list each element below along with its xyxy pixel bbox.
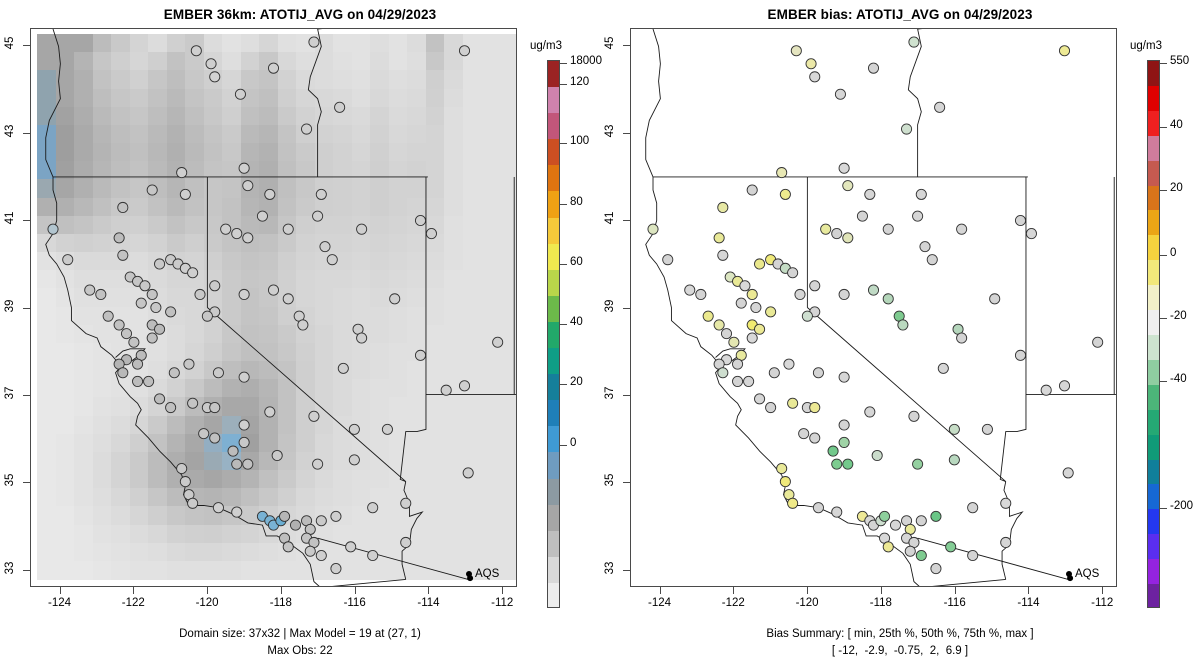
aqs-site-marker[interactable] <box>368 503 378 513</box>
aqs-dot-icon <box>1066 571 1072 577</box>
aqs-site-marker[interactable] <box>802 311 812 321</box>
aqs-site-marker[interactable] <box>769 368 779 378</box>
aqs-site-marker[interactable] <box>839 372 849 382</box>
aqs-site-marker[interactable] <box>810 402 820 412</box>
colorbar-segment <box>548 583 559 608</box>
aqs-site-marker[interactable] <box>283 294 293 304</box>
aqs-site-marker[interactable] <box>810 72 820 82</box>
aqs-site-marker[interactable] <box>144 376 154 386</box>
colorbar-segment <box>1148 559 1159 584</box>
aqs-site-marker[interactable] <box>459 381 469 391</box>
colorbar-tick <box>560 384 567 385</box>
aqs-site-marker[interactable] <box>872 450 882 460</box>
aqs-site-marker[interactable] <box>813 368 823 378</box>
aqs-site-marker[interactable] <box>909 37 919 47</box>
aqs-site-marker[interactable] <box>703 311 713 321</box>
colorbar-tick-label: 20 <box>1170 182 1183 194</box>
aqs-site-marker[interactable] <box>166 402 176 412</box>
aqs-legend-label: AQS <box>475 568 499 580</box>
x-axis-label: -124 <box>36 597 84 609</box>
aqs-site-marker[interactable] <box>331 511 341 521</box>
aqs-site-marker[interactable] <box>239 289 249 299</box>
aqs-site-marker[interactable] <box>898 320 908 330</box>
aqs-site-marker[interactable] <box>832 459 842 469</box>
aqs-site-marker[interactable] <box>154 394 164 404</box>
aqs-site-marker[interactable] <box>305 546 315 556</box>
aqs-site-marker[interactable] <box>154 259 164 269</box>
x-axis-tick <box>281 587 282 594</box>
aqs-site-marker[interactable] <box>257 211 267 221</box>
y-axis-label: 43 <box>604 119 616 143</box>
y-axis-tick <box>623 220 630 221</box>
aqs-site-marker[interactable] <box>754 394 764 404</box>
aqs-site-marker[interactable] <box>931 511 941 521</box>
aqs-site-marker[interactable] <box>140 281 150 291</box>
colorbar-tick <box>560 264 567 265</box>
aqs-site-marker[interactable] <box>732 376 742 386</box>
x-axis-tick <box>355 587 356 594</box>
aqs-site-marker[interactable] <box>718 202 728 212</box>
aqs-site-marker[interactable] <box>426 228 436 238</box>
colorbar-tick <box>560 143 567 144</box>
aqs-site-marker[interactable] <box>810 433 820 443</box>
aqs-site-marker[interactable] <box>1041 385 1051 395</box>
aqs-site-marker[interactable] <box>232 228 242 238</box>
aqs-site-marker[interactable] <box>390 294 400 304</box>
colorbar-tick-label: 100 <box>570 135 589 147</box>
aqs-site-marker[interactable] <box>696 289 706 299</box>
colorbar-segment <box>548 218 559 244</box>
aqs-site-marker[interactable] <box>788 498 798 508</box>
colorbar-tick-label: 0 <box>1170 247 1176 259</box>
colorbar-segment <box>1148 186 1159 211</box>
aqs-site-marker[interactable] <box>938 363 948 373</box>
aqs-site-marker[interactable] <box>298 320 308 330</box>
colorbar-segment <box>548 87 559 113</box>
aqs-site-marker[interactable] <box>63 255 73 265</box>
aqs-site-marker[interactable] <box>290 520 300 530</box>
aqs-site-marker[interactable] <box>188 268 198 278</box>
aqs-site-marker[interactable] <box>213 503 223 513</box>
colorbar-segment <box>548 426 559 452</box>
aqs-site-marker[interactable] <box>714 320 724 330</box>
aqs-site-marker[interactable] <box>901 124 911 134</box>
aqs-site-marker[interactable] <box>316 550 326 560</box>
aqs-site-marker[interactable] <box>909 411 919 421</box>
aqs-site-marker[interactable] <box>114 320 124 330</box>
aqs-site-marker[interactable] <box>243 459 253 469</box>
aqs-site-marker[interactable] <box>810 281 820 291</box>
aqs-site-marker[interactable] <box>920 242 930 252</box>
bias-map-plot-area[interactable] <box>630 28 1117 587</box>
aqs-site-marker[interactable] <box>239 420 249 430</box>
aqs-site-marker[interactable] <box>210 402 220 412</box>
aqs-site-marker[interactable] <box>721 329 731 339</box>
colorbar-segment <box>548 531 559 557</box>
colorbar-segment <box>548 61 559 87</box>
aqs-site-marker[interactable] <box>766 402 776 412</box>
aqs-site-marker[interactable] <box>103 311 113 321</box>
aqs-site-marker[interactable] <box>132 376 142 386</box>
aqs-site-marker[interactable] <box>839 420 849 430</box>
aqs-site-marker[interactable] <box>180 476 190 486</box>
aqs-site-marker[interactable] <box>788 398 798 408</box>
aqs-site-marker[interactable] <box>459 46 469 56</box>
colorbar-segment <box>548 479 559 505</box>
aqs-site-marker[interactable] <box>913 211 923 221</box>
aqs-dot-icon <box>466 571 472 577</box>
aqs-site-marker[interactable] <box>232 459 242 469</box>
aqs-site-marker[interactable] <box>349 455 359 465</box>
colorbar-segment <box>548 191 559 217</box>
aqs-site-marker[interactable] <box>754 259 764 269</box>
aqs-site-marker[interactable] <box>136 298 146 308</box>
aqs-site-marker[interactable] <box>235 89 245 99</box>
aqs-site-marker[interactable] <box>718 250 728 260</box>
aqs-site-marker[interactable] <box>839 289 849 299</box>
aqs-site-marker[interactable] <box>968 550 978 560</box>
colorbar-segment <box>548 505 559 531</box>
aqs-site-marker[interactable] <box>839 437 849 447</box>
y-axis-label: 33 <box>604 556 616 580</box>
aqs-site-marker[interactable] <box>415 350 425 360</box>
x-axis-tick <box>133 587 134 594</box>
aqs-site-marker[interactable] <box>865 189 875 199</box>
aqs-site-marker[interactable] <box>268 63 278 73</box>
aqs-site-marker[interactable] <box>243 233 253 243</box>
aqs-site-marker[interactable] <box>868 63 878 73</box>
aqs-site-marker[interactable] <box>835 89 845 99</box>
aqs-site-marker[interactable] <box>883 224 893 234</box>
x-axis-tick <box>660 587 661 594</box>
aqs-site-marker[interactable] <box>916 550 926 560</box>
aqs-site-marker[interactable] <box>777 168 787 178</box>
x-axis-label: -124 <box>636 597 684 609</box>
y-axis-tick <box>23 308 30 309</box>
aqs-site-marker[interactable] <box>744 376 754 386</box>
aqs-site-marker[interactable] <box>927 255 937 265</box>
aqs-site-marker[interactable] <box>401 537 411 547</box>
aqs-site-marker[interactable] <box>147 333 157 343</box>
aqs-site-marker[interactable] <box>239 437 249 447</box>
aqs-site-marker[interactable] <box>957 333 967 343</box>
aqs-site-marker[interactable] <box>210 281 220 291</box>
aqs-site-marker[interactable] <box>180 189 190 199</box>
aqs-site-marker[interactable] <box>401 498 411 508</box>
aqs-site-marker[interactable] <box>1059 46 1069 56</box>
aqs-site-marker[interactable] <box>821 224 831 234</box>
aqs-site-marker[interactable] <box>188 398 198 408</box>
colorbar-tick <box>560 63 567 64</box>
y-axis-label: 35 <box>604 468 616 492</box>
aqs-site-marker[interactable] <box>982 424 992 434</box>
y-axis-label: 33 <box>4 556 16 580</box>
colorbar-tick-label: -200 <box>1170 500 1193 512</box>
aqs-site-marker[interactable] <box>357 333 367 343</box>
aqs-site-marker[interactable] <box>784 359 794 369</box>
aqs-site-marker[interactable] <box>843 233 853 243</box>
panel-model-title: EMBER 36km: ATOTIJ_AVG on 04/29/2023 <box>0 7 600 22</box>
aqs-site-marker[interactable] <box>839 163 849 173</box>
aqs-site-marker[interactable] <box>868 285 878 295</box>
aqs-site-marker[interactable] <box>121 329 131 339</box>
aqs-site-marker[interactable] <box>210 72 220 82</box>
aqs-site-marker[interactable] <box>265 407 275 417</box>
aqs-site-marker[interactable] <box>865 407 875 417</box>
aqs-site-marker[interactable] <box>346 542 356 552</box>
x-axis-label: -114 <box>404 597 452 609</box>
aqs-site-marker[interactable] <box>96 289 106 299</box>
bias-caption-line-2: [ -12, -2.9, -0.75, 2, 6.9 ] <box>600 645 1200 657</box>
aqs-site-marker[interactable] <box>213 368 223 378</box>
aqs-site-marker[interactable] <box>832 228 842 238</box>
aqs-site-marker[interactable] <box>331 563 341 573</box>
colorbar-tick-label: 550 <box>1170 55 1189 67</box>
aqs-site-marker[interactable] <box>368 550 378 560</box>
aqs-site-marker[interactable] <box>129 337 139 347</box>
aqs-site-marker[interactable] <box>151 302 161 312</box>
aqs-site-marker[interactable] <box>714 233 724 243</box>
aqs-site-marker[interactable] <box>316 516 326 526</box>
colorbar-tick-label: 120 <box>570 76 589 88</box>
aqs-site-marker[interactable] <box>48 224 58 234</box>
colorbar-tick-label: 0 <box>570 437 576 449</box>
aqs-site-marker[interactable] <box>232 507 242 517</box>
colorbar-segment <box>1148 335 1159 360</box>
aqs-site-marker[interactable] <box>177 168 187 178</box>
aqs-site-marker[interactable] <box>968 503 978 513</box>
aqs-site-marker[interactable] <box>349 424 359 434</box>
aqs-site-marker[interactable] <box>949 455 959 465</box>
aqs-site-marker[interactable] <box>843 459 853 469</box>
aqs-site-marker[interactable] <box>813 503 823 513</box>
aqs-site-marker[interactable] <box>916 516 926 526</box>
aqs-site-marker[interactable] <box>154 324 164 334</box>
aqs-site-marker[interactable] <box>990 294 1000 304</box>
aqs-site-marker[interactable] <box>718 368 728 378</box>
aqs-site-marker[interactable] <box>493 337 503 347</box>
aqs-site-marker[interactable] <box>169 368 179 378</box>
colorbar-segment <box>1148 310 1159 335</box>
aqs-site-marker[interactable] <box>239 163 249 173</box>
aqs-site-marker[interactable] <box>795 289 805 299</box>
aqs-site-marker[interactable] <box>732 359 742 369</box>
aqs-site-marker[interactable] <box>382 424 392 434</box>
aqs-site-marker[interactable] <box>206 59 216 69</box>
x-axis-tick <box>60 587 61 594</box>
aqs-site-marker[interactable] <box>777 463 787 473</box>
aqs-site-marker[interactable] <box>883 294 893 304</box>
aqs-site-marker[interactable] <box>239 372 249 382</box>
aqs-site-markers-bias[interactable] <box>631 29 1116 586</box>
aqs-site-marker[interactable] <box>754 324 764 334</box>
aqs-site-marker[interactable] <box>747 185 757 195</box>
aqs-site-marker[interactable] <box>751 302 761 312</box>
aqs-site-marker[interactable] <box>648 224 658 234</box>
colorbar-segment <box>548 348 559 374</box>
aqs-site-marker[interactable] <box>788 268 798 278</box>
aqs-site-marker[interactable] <box>1063 468 1073 478</box>
colorbar-tick-label: -40 <box>1170 373 1187 385</box>
aqs-site-marker[interactable] <box>463 468 473 478</box>
colorbar-segment <box>1148 385 1159 410</box>
colorbar-tick <box>1160 127 1167 128</box>
aqs-site-marker[interactable] <box>441 385 451 395</box>
aqs-site-marker[interactable] <box>780 189 790 199</box>
aqs-site-marker[interactable] <box>957 224 967 234</box>
aqs-site-marker[interactable] <box>191 46 201 56</box>
colorbar-segment <box>548 400 559 426</box>
aqs-site-marker[interactable] <box>118 250 128 260</box>
y-axis-tick <box>23 45 30 46</box>
aqs-site-marker[interactable] <box>228 446 238 456</box>
colorbar-tick <box>560 84 567 85</box>
aqs-site-marker[interactable] <box>243 181 253 191</box>
colorbar-tick-label: 40 <box>570 316 583 328</box>
aqs-site-marker[interactable] <box>283 542 293 552</box>
aqs-site-marker[interactable] <box>935 102 945 112</box>
y-axis-tick <box>23 570 30 571</box>
aqs-site-marker[interactable] <box>415 215 425 225</box>
aqs-site-marker[interactable] <box>931 563 941 573</box>
x-axis-tick <box>881 587 882 594</box>
model-map-plot-area[interactable] <box>30 28 517 587</box>
y-axis-label: 39 <box>604 294 616 318</box>
aqs-site-marker[interactable] <box>946 542 956 552</box>
colorbar-segment <box>1148 435 1159 460</box>
x-axis-label: -114 <box>1004 597 1052 609</box>
aqs-site-marker[interactable] <box>1026 228 1036 238</box>
aqs-site-marker[interactable] <box>832 507 842 517</box>
aqs-site-marker[interactable] <box>188 498 198 508</box>
aqs-site-marker[interactable] <box>221 224 231 234</box>
colorbar-segment <box>1148 534 1159 559</box>
y-axis-tick <box>23 482 30 483</box>
aqs-site-marker[interactable] <box>879 511 889 521</box>
aqs-site-marker[interactable] <box>791 46 801 56</box>
aqs-site-marker[interactable] <box>1015 215 1025 225</box>
aqs-site-marker[interactable] <box>843 181 853 191</box>
aqs-site-marker[interactable] <box>118 368 128 378</box>
aqs-site-marker[interactable] <box>309 411 319 421</box>
aqs-site-marker[interactable] <box>949 424 959 434</box>
aqs-site-marker[interactable] <box>1059 381 1069 391</box>
aqs-site-marker[interactable] <box>283 224 293 234</box>
aqs-site-marker[interactable] <box>780 476 790 486</box>
x-axis-label: -112 <box>1078 597 1126 609</box>
y-axis-tick <box>623 482 630 483</box>
y-axis-label: 45 <box>604 31 616 55</box>
aqs-site-marker[interactable] <box>268 285 278 295</box>
aqs-site-marker[interactable] <box>857 211 867 221</box>
x-axis-label: -116 <box>331 597 379 609</box>
panel-bias: EMBER bias: ATOTIJ_AVG on 04/29/2023 454… <box>600 0 1200 672</box>
aqs-site-marker[interactable] <box>85 285 95 295</box>
aqs-site-marker[interactable] <box>202 311 212 321</box>
colorbar-tick-label: 40 <box>1170 119 1183 131</box>
bias-colorbar-units: ug/m3 <box>1130 40 1162 52</box>
colorbar-segment <box>1148 584 1159 608</box>
y-axis-label: 37 <box>4 381 16 405</box>
aqs-site-marker[interactable] <box>799 429 809 439</box>
aqs-site-marker[interactable] <box>905 546 915 556</box>
aqs-site-marker[interactable] <box>313 211 323 221</box>
colorbar-segment <box>1148 61 1159 86</box>
aqs-site-marker[interactable] <box>1015 350 1025 360</box>
aqs-site-marker[interactable] <box>147 185 157 195</box>
aqs-site-marker[interactable] <box>747 289 757 299</box>
aqs-site-marker[interactable] <box>320 242 330 252</box>
colorbar-segment <box>548 296 559 322</box>
colorbar-segment <box>1148 484 1159 509</box>
aqs-site-marker[interactable] <box>210 433 220 443</box>
y-axis-tick <box>623 308 630 309</box>
aqs-site-marker[interactable] <box>199 429 209 439</box>
aqs-site-marker[interactable] <box>806 59 816 69</box>
aqs-site-marker[interactable] <box>313 459 323 469</box>
aqs-site-marker[interactable] <box>729 337 739 347</box>
colorbar-tick <box>1160 508 1167 509</box>
aqs-site-marker[interactable] <box>177 463 187 473</box>
aqs-site-marker[interactable] <box>1001 537 1011 547</box>
aqs-site-marker[interactable] <box>736 298 746 308</box>
aqs-site-marker[interactable] <box>301 124 311 134</box>
aqs-site-marker[interactable] <box>118 202 128 212</box>
aqs-site-marker[interactable] <box>309 37 319 47</box>
aqs-site-marker[interactable] <box>147 289 157 299</box>
y-axis-label: 35 <box>4 468 16 492</box>
aqs-site-marker[interactable] <box>166 307 176 317</box>
x-axis-tick <box>1028 587 1029 594</box>
aqs-site-marker[interactable] <box>357 224 367 234</box>
aqs-site-marker[interactable] <box>740 281 750 291</box>
aqs-site-marker[interactable] <box>184 359 194 369</box>
x-axis-tick <box>428 587 429 594</box>
aqs-site-marker[interactable] <box>335 102 345 112</box>
colorbar-tick-label: 80 <box>570 196 583 208</box>
aqs-site-marker[interactable] <box>828 446 838 456</box>
x-axis-tick <box>955 587 956 594</box>
aqs-site-marker[interactable] <box>766 307 776 317</box>
aqs-site-marker[interactable] <box>279 511 289 521</box>
y-axis-tick <box>623 570 630 571</box>
aqs-site-marker[interactable] <box>1093 337 1103 347</box>
aqs-site-marker[interactable] <box>747 333 757 343</box>
aqs-site-markers-model[interactable] <box>31 29 516 586</box>
aqs-site-marker[interactable] <box>916 189 926 199</box>
colorbar-segment <box>1148 509 1159 534</box>
aqs-site-marker[interactable] <box>272 450 282 460</box>
aqs-site-marker[interactable] <box>1001 498 1011 508</box>
aqs-site-marker[interactable] <box>114 233 124 243</box>
aqs-site-marker[interactable] <box>663 255 673 265</box>
x-axis-label: -118 <box>257 597 305 609</box>
aqs-site-marker[interactable] <box>265 189 275 199</box>
aqs-site-marker[interactable] <box>316 189 326 199</box>
colorbar-tick-label: 20 <box>570 376 583 388</box>
aqs-site-marker[interactable] <box>195 289 205 299</box>
aqs-site-marker[interactable] <box>338 363 348 373</box>
aqs-site-marker[interactable] <box>890 520 900 530</box>
aqs-site-marker[interactable] <box>132 359 142 369</box>
y-axis-tick <box>623 45 630 46</box>
aqs-site-marker[interactable] <box>327 255 337 265</box>
aqs-site-marker[interactable] <box>913 459 923 469</box>
colorbar-tick <box>1160 318 1167 319</box>
aqs-site-marker[interactable] <box>685 285 695 295</box>
aqs-site-marker[interactable] <box>883 542 893 552</box>
aqs-legend-model: AQS <box>466 568 499 580</box>
